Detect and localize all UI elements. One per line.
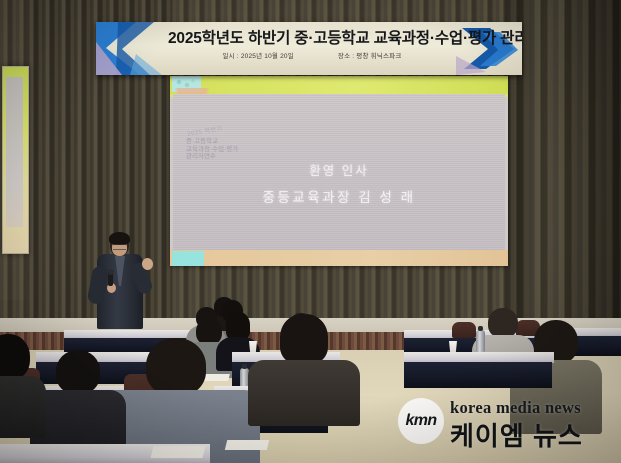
banner-chevron-left-icon [96, 22, 168, 75]
side-display-content [6, 77, 23, 227]
paper-cup [449, 341, 457, 352]
slide-subheading: 중등교육과장 김 성 래 [173, 186, 505, 206]
event-banner: 2025학년도 하반기 중·고등학교 교육과정·수업·평가 관리자 연수 일시 … [96, 22, 522, 75]
slide-bottom-band [170, 250, 508, 266]
slide-top-band [170, 76, 508, 94]
paper-sheet [151, 446, 206, 458]
paper-cup [249, 341, 257, 352]
slide-corner-line-2: 교육과정·수업·평가 [186, 146, 238, 154]
banner-subtitle: 일시 : 2025년 10월 20일 장소 : 평창 휘닉스파크 [168, 50, 456, 60]
watermark-english: korea media news [450, 398, 581, 418]
kmn-logo-text: kmn [405, 412, 436, 430]
audience-head [196, 318, 222, 345]
watermark: kmn korea media news 케이엠 뉴스 [398, 396, 613, 456]
banner-title: 2025학년도 하반기 중·고등학교 교육과정·수업·평가 관리자 연수 [168, 26, 456, 48]
audience-head [56, 350, 100, 394]
paper-sheet [225, 440, 269, 450]
slide-corner-lines: 중·고등학교 교육과정·수업·평가 관리자연수 [186, 138, 238, 161]
kmn-logo-icon: kmn [398, 398, 444, 444]
audience-head [226, 312, 250, 340]
microphone-icon [108, 272, 113, 286]
audience-head [280, 314, 328, 364]
conference-photo-scene: 2025 하반기 중·고등학교 교육과정·수업·평가 관리자연수 환영 인사 중… [0, 0, 621, 463]
water-bottle [476, 330, 485, 352]
table-row [404, 362, 552, 388]
banner-place: 장소 : 평창 휘닉스파크 [338, 50, 402, 60]
stage-curtain-right-panel [505, 0, 621, 330]
paper-sheet [202, 374, 230, 381]
watermark-korean: 케이엠 뉴스 [450, 416, 583, 453]
slide-body: 2025 하반기 중·고등학교 교육과정·수업·평가 관리자연수 환영 인사 중… [173, 94, 505, 250]
audience-body [248, 360, 360, 426]
audience-head [146, 338, 206, 396]
slide-bottom-corner-decoration-icon [172, 251, 204, 266]
banner-date: 일시 : 2025년 10월 20일 [222, 50, 293, 60]
slide-corner-script: 2025 하반기 [187, 123, 224, 137]
projection-screen: 2025 하반기 중·고등학교 교육과정·수업·평가 관리자연수 환영 인사 중… [170, 76, 508, 266]
audience-head [488, 308, 518, 338]
slide-title-block: 환영 인사 중등교육과장 김 성 래 [173, 160, 505, 206]
chair [452, 322, 476, 338]
slide-heading: 환영 인사 [173, 160, 505, 179]
speaker-glasses-icon [113, 244, 126, 250]
audience-body [0, 376, 46, 438]
slide-corner-line-1: 중·고등학교 [186, 138, 238, 146]
side-display-screen [2, 66, 29, 254]
